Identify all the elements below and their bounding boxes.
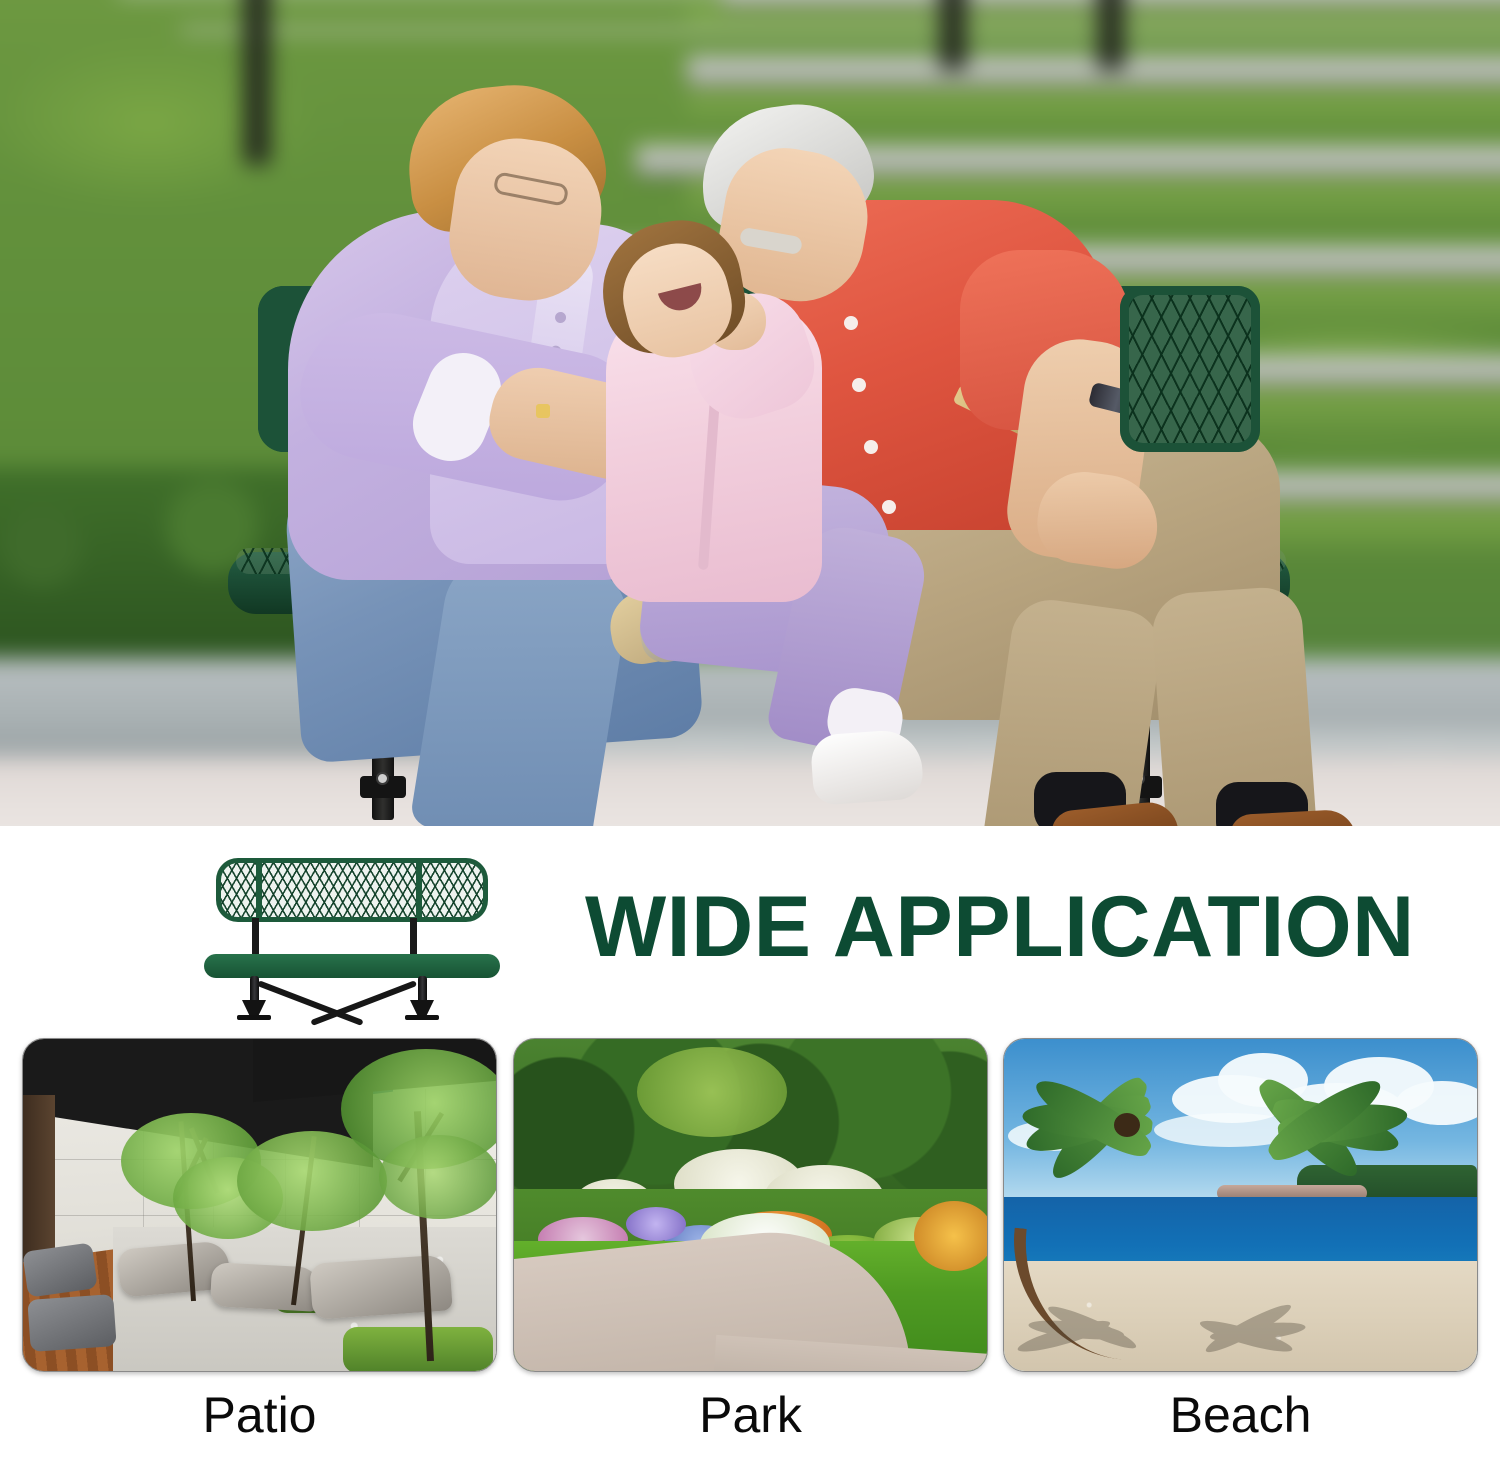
bench-icon-seat — [204, 954, 500, 978]
patio-lounge-chair — [27, 1294, 116, 1352]
patio-lounge-chair — [22, 1242, 98, 1297]
patio-moss — [343, 1327, 493, 1372]
child-shoe — [810, 728, 925, 806]
bench-icon-foot — [242, 1000, 266, 1016]
card-patio[interactable] — [22, 1038, 497, 1372]
bench-icon-brace — [310, 980, 417, 1026]
bench-bolt-left — [376, 772, 389, 785]
card-label-beach: Beach — [1003, 1386, 1478, 1444]
card-label-park: Park — [513, 1386, 988, 1444]
patio-scene — [23, 1039, 496, 1371]
hero-lifestyle-photo — [0, 0, 1500, 826]
bench-icon-brace — [257, 980, 364, 1026]
card-beach[interactable] — [1003, 1038, 1478, 1372]
bench-icon-back-divider — [416, 858, 422, 922]
bench-armrest-right — [1120, 286, 1260, 452]
bench-icon-foot — [410, 1000, 434, 1016]
bench-icon-back-divider — [256, 858, 262, 922]
grandmother-ring — [536, 404, 550, 418]
patio-rock — [210, 1262, 322, 1312]
application-cards: Patio — [0, 1038, 1500, 1469]
park-sunlit-foliage — [637, 1047, 787, 1137]
card-label-patio: Patio — [22, 1386, 497, 1444]
bench-icon-base-plate — [405, 1015, 439, 1020]
card-park[interactable] — [513, 1038, 988, 1372]
bench-armrest-mesh — [1129, 295, 1251, 443]
palm-shadow — [1014, 1291, 1224, 1365]
beach-scene — [1004, 1039, 1477, 1371]
bench-product-icon — [204, 842, 504, 1014]
bench-icon-base-plate — [237, 1015, 271, 1020]
park-scene — [514, 1039, 987, 1371]
page-headline: WIDE APPLICATION — [585, 884, 1415, 970]
